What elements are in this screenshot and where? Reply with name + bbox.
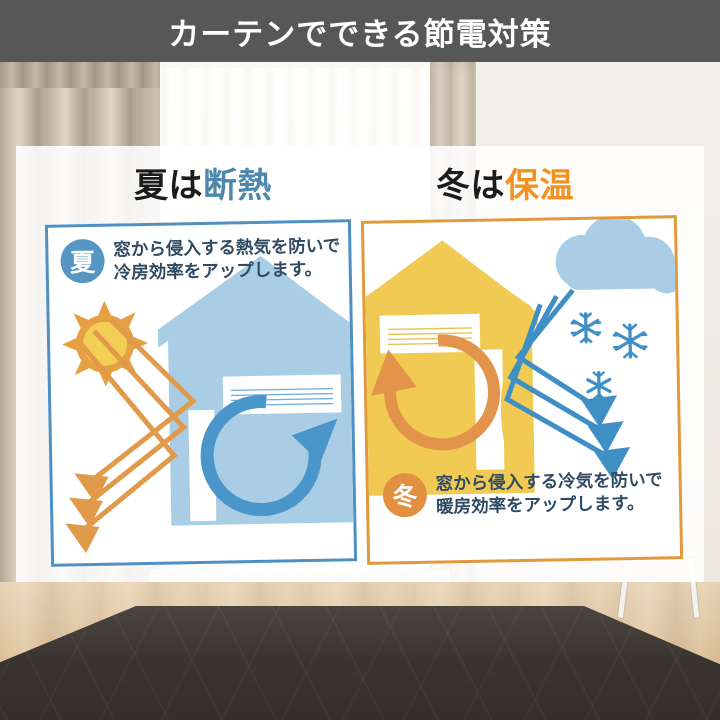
cloud-icon <box>555 218 680 295</box>
heat-ray-arrow-icon <box>49 308 254 564</box>
screenshot-root: カーテンでできる節電対策 夏は断熱 冬は保温 <box>0 0 720 720</box>
heading-winter: 冬は保温 <box>436 158 574 207</box>
section-headings: 夏は断熱 冬は保温 <box>16 158 704 214</box>
panel-winter-inner: 冬 窓から侵入する冷気を防いで 暖房効率をアップします。 <box>364 218 680 562</box>
header-bar: カーテンでできる節電対策 <box>0 0 720 62</box>
caption-winter-text: 窓から侵入する冷気を防いで 暖房効率をアップします。 <box>435 468 663 520</box>
snowflake-icon <box>572 313 648 399</box>
curtain-left-header <box>0 62 160 88</box>
heading-winter-prefix: 冬は <box>436 166 505 206</box>
season-badge-winter: 冬 <box>383 473 428 518</box>
page-title: カーテンでできる節電対策 <box>168 9 551 54</box>
panel-winter: 冬 窓から侵入する冷気を防いで 暖房効率をアップします。 <box>361 215 683 565</box>
caption-winter: 冬 窓から侵入する冷気を防いで 暖房効率をアップします。 <box>383 468 664 521</box>
heading-summer-prefix: 夏は <box>134 166 203 206</box>
panel-summer-inner: 夏 窓から侵入する熱気を防いで 冷房効率をアップします。 <box>48 222 354 563</box>
heading-summer-accent: 断熱 <box>203 166 272 206</box>
caption-summer: 夏 窓から侵入する熱気を防いで 冷房効率をアップします。 <box>60 234 341 287</box>
season-badge-summer: 夏 <box>60 239 105 284</box>
heading-summer: 夏は断熱 <box>134 158 272 207</box>
panel-summer: 夏 窓から侵入する熱気を防いで 冷房効率をアップします。 <box>45 219 357 567</box>
heading-winter-accent: 保温 <box>505 166 574 206</box>
floor-rug-texture <box>0 606 720 720</box>
caption-summer-text: 窓から侵入する熱気を防いで 冷房効率をアップします。 <box>113 234 341 286</box>
